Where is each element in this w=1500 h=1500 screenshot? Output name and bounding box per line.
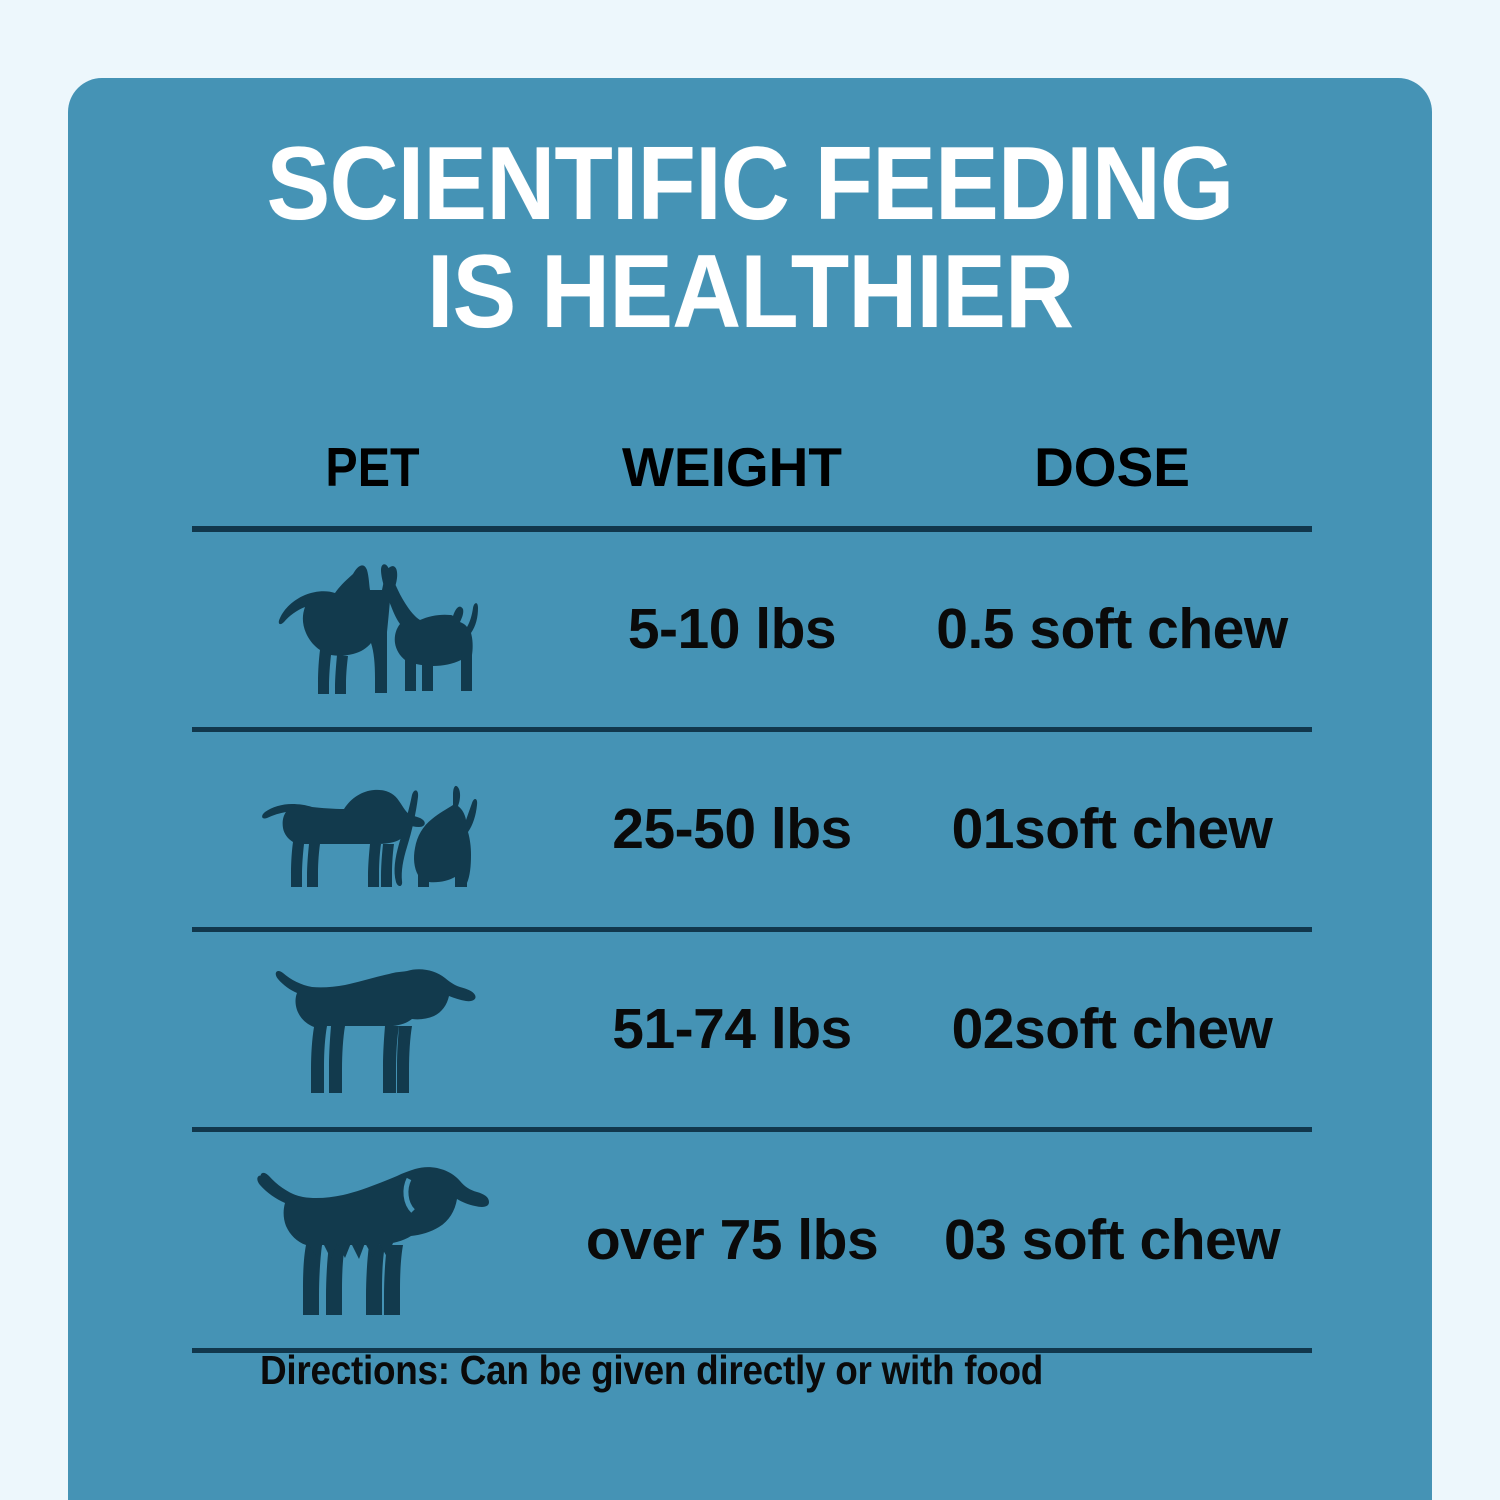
weight-cell: 51-74 lbs: [552, 1001, 912, 1058]
weight-value: 51-74 lbs: [612, 997, 851, 1061]
table-row: 51-74 lbs 02soft chew: [192, 932, 1312, 1127]
weight-cell: over 75 lbs: [552, 1212, 912, 1269]
directions-text: Directions: Can be given directly or wit…: [260, 1350, 1043, 1391]
weight-cell: 25-50 lbs: [552, 801, 912, 858]
dose-cell: 01soft chew: [912, 801, 1312, 858]
page-title: SCIENTIFIC FEEDING IS HEALTHIER: [123, 130, 1378, 346]
table-row: 25-50 lbs 01soft chew: [192, 732, 1312, 927]
dose-value: 03 soft chew: [944, 1208, 1280, 1272]
medium-dog-icon: [257, 957, 487, 1102]
table-row: over 75 lbs 03 soft chew: [192, 1132, 1312, 1348]
header-label-pet: PET: [325, 440, 419, 495]
dose-value: 01soft chew: [952, 797, 1273, 861]
pet-cell: [192, 957, 552, 1102]
dose-cell: 02soft chew: [912, 1001, 1312, 1058]
table-header-row: PET WEIGHT DOSE: [192, 408, 1312, 526]
weight-cell: 5-10 lbs: [552, 601, 912, 658]
dose-cell: 0.5 soft chew: [912, 601, 1312, 658]
pet-cell: [192, 765, 552, 895]
dachshund-and-sitting-cat-icon: [252, 765, 492, 895]
weight-value: 25-50 lbs: [612, 797, 851, 861]
feeding-chart-card: SCIENTIFIC FEEDING IS HEALTHIER PET WEIG…: [68, 78, 1432, 1500]
dosing-table: PET WEIGHT DOSE: [192, 408, 1312, 1353]
feeding-chart-page: SCIENTIFIC FEEDING IS HEALTHIER PET WEIG…: [0, 0, 1500, 1500]
header-cell-dose: DOSE: [912, 440, 1312, 495]
dose-value: 0.5 soft chew: [936, 597, 1287, 661]
header-cell-pet: PET: [192, 440, 552, 495]
weight-value: 5-10 lbs: [628, 597, 836, 661]
dose-cell: 03 soft chew: [912, 1212, 1312, 1269]
header-label-weight: WEIGHT: [622, 436, 842, 498]
weight-value: over 75 lbs: [586, 1208, 878, 1272]
dose-value: 02soft chew: [952, 997, 1273, 1061]
table-row: 5-10 lbs 0.5 soft chew: [192, 532, 1312, 727]
large-dog-icon: [247, 1155, 497, 1325]
header-cell-weight: WEIGHT: [552, 440, 912, 495]
small-dog-and-cat-icon: [257, 560, 487, 700]
header-label-dose: DOSE: [1034, 436, 1190, 498]
pet-cell: [192, 1155, 552, 1325]
pet-cell: [192, 560, 552, 700]
